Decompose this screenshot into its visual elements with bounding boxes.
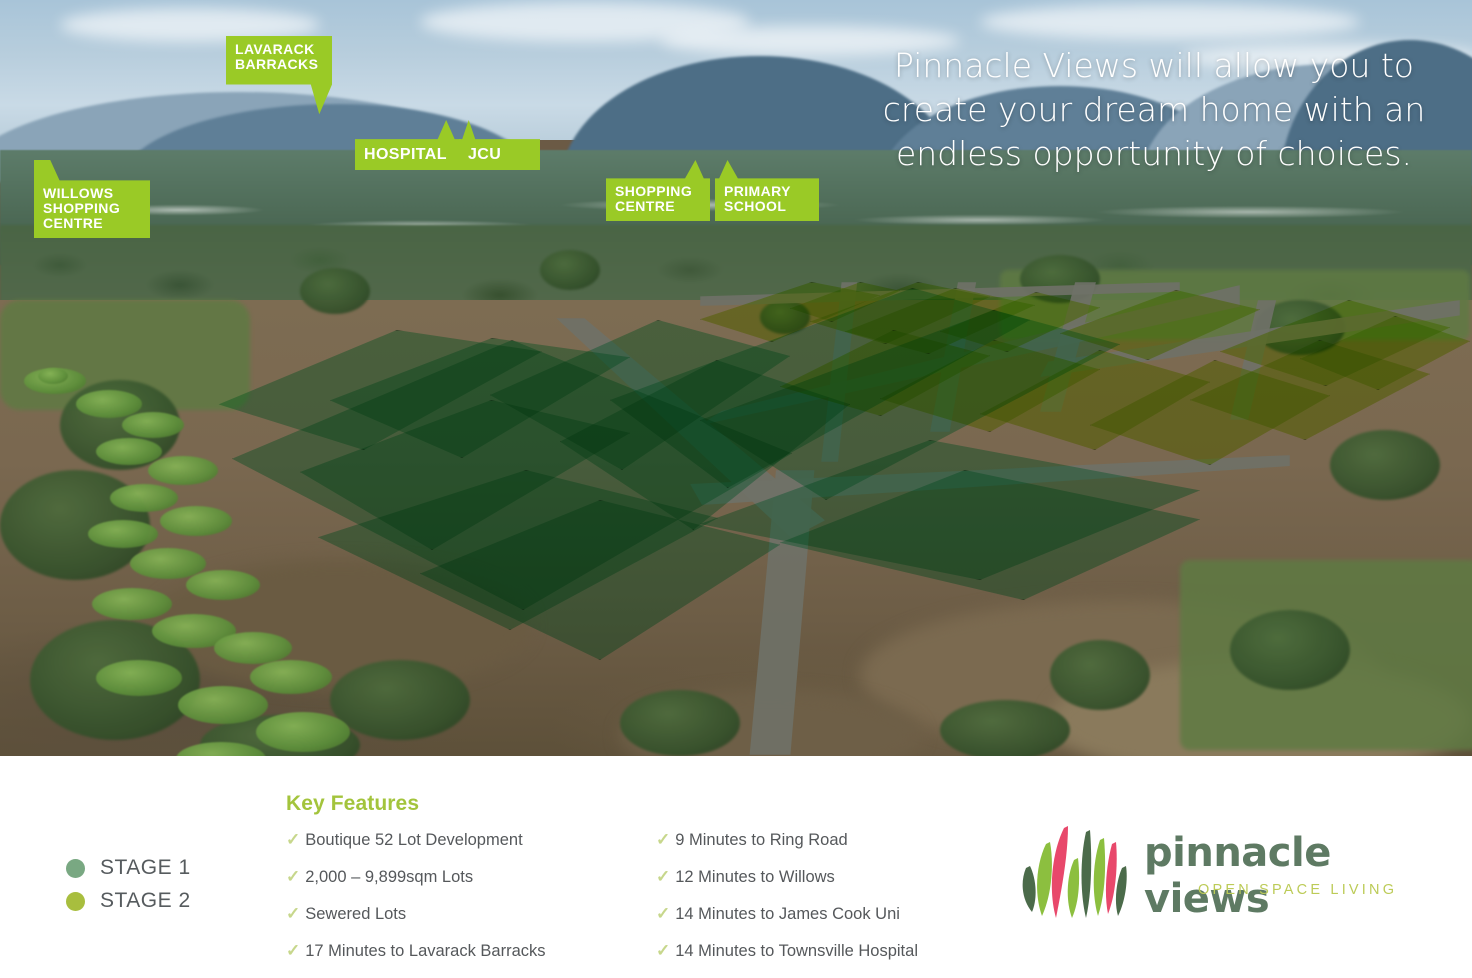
legend-item-stage2: STAGE 2 (66, 889, 191, 913)
map-pin-label: WILLOWS SHOPPING CENTRE (43, 186, 141, 231)
key-feature-label: 17 Minutes to Lavarack Barracks (305, 942, 545, 961)
logo-wordmark: pinnacle views (1144, 830, 1422, 922)
key-feature-label: 9 Minutes to Ring Road (675, 831, 847, 850)
tree (300, 268, 370, 314)
key-feature-label: 12 Minutes to Willows (675, 868, 835, 887)
cloud (980, 4, 1360, 40)
stage-legend: STAGE 1 STAGE 2 (66, 856, 191, 922)
planted-tree (96, 438, 162, 465)
planted-tree (88, 520, 158, 548)
key-feature-label: 14 Minutes to Townsville Hospital (675, 942, 918, 961)
brand-logo: pinnacle views OPEN SPACE LIVING (1012, 816, 1422, 921)
headline-text: Pinnacle Views will allow you to create … (854, 44, 1454, 176)
planted-tree (186, 570, 260, 600)
key-features-section: Key Features ✓ Boutique 52 Lot Developme… (286, 792, 966, 978)
tree (620, 690, 740, 756)
check-icon: ✓ (656, 831, 670, 848)
key-feature-item: ✓ 14 Minutes to Townsville Hospital (656, 942, 956, 961)
key-features-title: Key Features (286, 792, 966, 816)
key-feature-item: ✓ 17 Minutes to Lavarack Barracks (286, 942, 586, 961)
tree (540, 250, 600, 290)
planted-tree (110, 484, 178, 512)
grass-blades-logo-icon (1012, 816, 1132, 921)
tree (1050, 640, 1150, 710)
planted-tree (160, 506, 232, 536)
key-feature-item: ✓ 2,000 – 9,899sqm Lots (286, 868, 586, 887)
planted-tree (148, 456, 218, 485)
check-icon: ✓ (656, 942, 670, 959)
planted-tree (250, 660, 332, 694)
tree (1330, 430, 1440, 500)
tree (1230, 610, 1350, 690)
map-pin-label: PRIMARY SCHOOL (724, 184, 810, 214)
key-feature-label: Boutique 52 Lot Development (305, 831, 522, 850)
key-feature-item: ✓ 12 Minutes to Willows (656, 868, 956, 887)
check-icon: ✓ (286, 942, 300, 959)
map-pin-label: HOSPITAL (364, 146, 452, 163)
footer: STAGE 1 STAGE 2 Key Features ✓ Boutique … (0, 756, 1472, 978)
key-feature-item: ✓ Boutique 52 Lot Development (286, 831, 586, 850)
brochure-page: WILLOWS SHOPPING CENTRE LAVARACK BARRACK… (0, 0, 1472, 978)
planted-tree (214, 632, 292, 664)
tree (330, 660, 470, 740)
check-icon: ✓ (656, 868, 670, 885)
key-feature-label: 14 Minutes to James Cook Uni (675, 905, 900, 924)
key-feature-item: ✓ 14 Minutes to James Cook Uni (656, 905, 956, 924)
key-features-column-left: ✓ Boutique 52 Lot Development ✓ 2,000 – … (286, 831, 586, 978)
planted-tree (256, 712, 350, 752)
map-pin-label: SHOPPING CENTRE (615, 184, 701, 214)
key-features-column-right: ✓ 9 Minutes to Ring Road ✓ 12 Minutes to… (656, 831, 956, 978)
stage2-color-dot (66, 892, 85, 911)
legend-label: STAGE 1 (100, 856, 191, 880)
map-pin-label: JCU (468, 146, 531, 163)
key-feature-label: 2,000 – 9,899sqm Lots (305, 868, 473, 887)
check-icon: ✓ (656, 905, 670, 922)
key-feature-item: ✓ 9 Minutes to Ring Road (656, 831, 956, 850)
check-icon: ✓ (286, 868, 300, 885)
planted-tree (76, 390, 142, 418)
stage1-color-dot (66, 859, 85, 878)
check-icon: ✓ (286, 905, 300, 922)
aerial-photo: WILLOWS SHOPPING CENTRE LAVARACK BARRACK… (0, 0, 1472, 756)
key-feature-label: Sewered Lots (305, 905, 406, 924)
planted-tree (122, 412, 184, 438)
planted-tree (96, 660, 182, 696)
check-icon: ✓ (286, 831, 300, 848)
planted-tree (178, 686, 268, 724)
key-feature-item: ✓ Sewered Lots (286, 905, 586, 924)
planted-tree (92, 588, 172, 620)
logo-tagline: OPEN SPACE LIVING (1198, 882, 1397, 898)
legend-item-stage1: STAGE 1 (66, 856, 191, 880)
map-pin-label: LAVARACK BARRACKS (235, 42, 323, 72)
legend-label: STAGE 2 (100, 889, 191, 913)
planted-tree (38, 368, 68, 384)
tree (940, 700, 1070, 756)
